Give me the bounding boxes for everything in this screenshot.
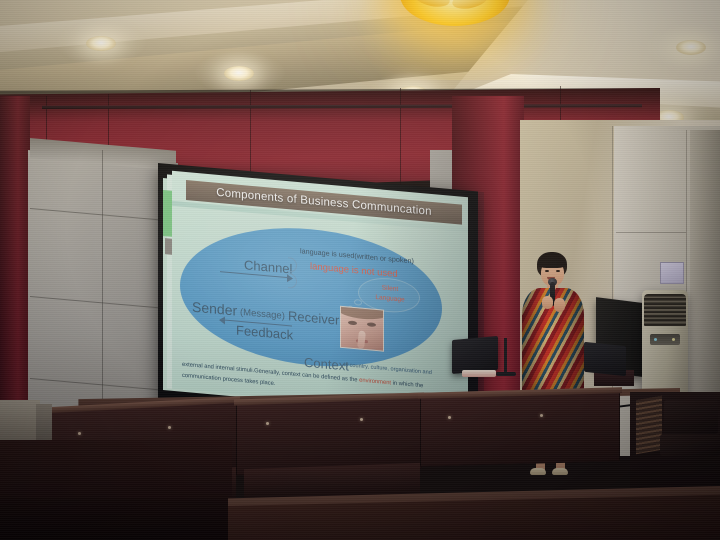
body-highlight: environment	[359, 378, 391, 387]
projector-screen[interactable]: Components of Business Communcation lang…	[163, 168, 473, 426]
shoe-left	[530, 468, 546, 475]
podium-panel	[420, 389, 620, 467]
chair-slats	[636, 396, 662, 455]
papers-on-lectern	[462, 370, 496, 377]
chair-seat[interactable]	[660, 434, 720, 456]
previous-slide-sliver	[163, 190, 172, 237]
thought-bubble-text: Silent Language	[368, 282, 412, 306]
context-inline-text: is country, culture, organization and	[344, 362, 432, 376]
second-laptop[interactable]	[584, 342, 626, 376]
shush-face-photo	[340, 306, 384, 352]
left-maroon-pillar	[0, 96, 30, 446]
mic-stand	[504, 338, 507, 374]
shoe-right	[552, 468, 568, 475]
ac-grill	[644, 294, 686, 326]
chair-backrest[interactable]	[664, 400, 718, 434]
photo-scene: Components of Business Communcation lang…	[0, 0, 720, 540]
wall-plate	[660, 262, 684, 284]
laptop[interactable]	[452, 336, 498, 374]
presentation-slide[interactable]: Components of Business Communcation lang…	[172, 171, 468, 415]
